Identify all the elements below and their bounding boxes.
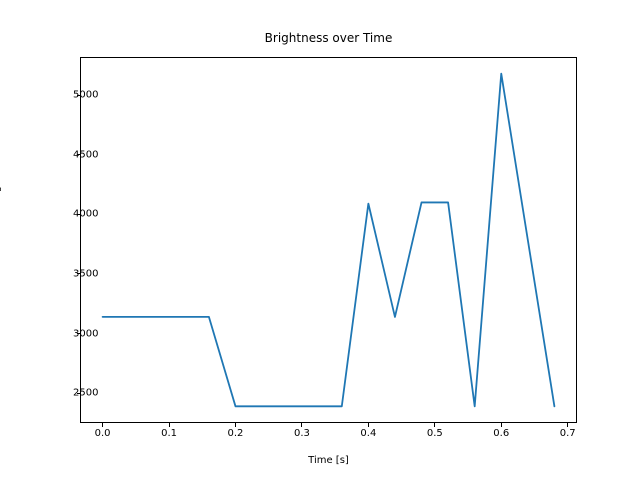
plot-axes-frame (80, 57, 577, 423)
chart-title: Brightness over Time (80, 31, 577, 45)
y-axis-label: Brightness (0, 153, 2, 206)
x-tick-label: 0.0 (95, 428, 111, 439)
x-tick-mark (102, 423, 103, 427)
x-tick-label: 0.6 (493, 428, 509, 439)
x-tick-label: 0.5 (427, 428, 443, 439)
x-tick-label: 0.4 (360, 428, 376, 439)
x-tick-label: 0.2 (228, 428, 244, 439)
x-tick-mark (169, 423, 170, 427)
x-tick-label: 0.1 (161, 428, 177, 439)
matplotlib-figure: Brightness over Time Brightness Time [s]… (0, 0, 640, 480)
x-tick-mark (567, 423, 568, 427)
x-tick-mark (501, 423, 502, 427)
x-tick-label: 0.7 (560, 428, 576, 439)
x-tick-mark (434, 423, 435, 427)
x-axis-label: Time [s] (80, 455, 577, 466)
x-tick-mark (301, 423, 302, 427)
x-tick-mark (368, 423, 369, 427)
x-tick-label: 0.3 (294, 428, 310, 439)
x-tick-mark (235, 423, 236, 427)
